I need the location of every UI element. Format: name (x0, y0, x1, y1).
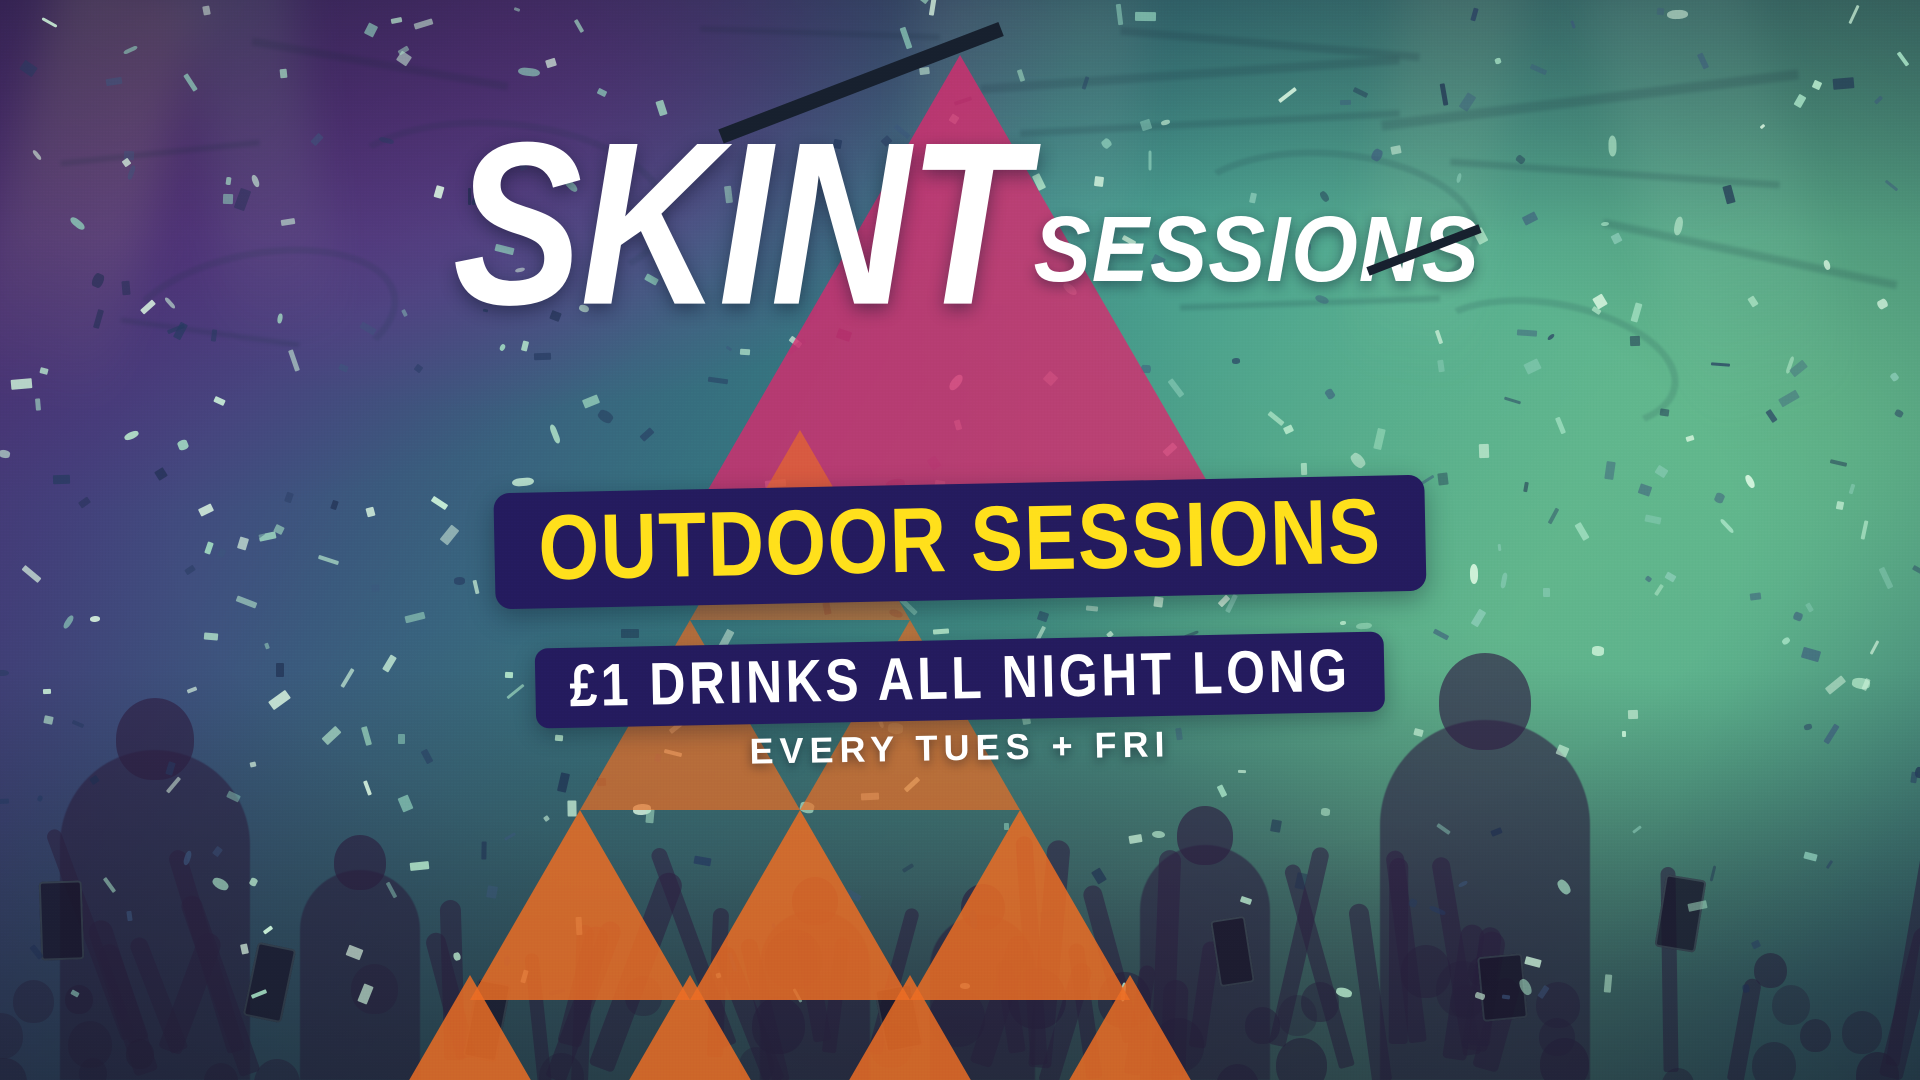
event-flyer: SKINT SESSIONS OUTDOOR SESSIONS £1 DRINK… (0, 0, 1920, 1080)
film-grain-overlay (0, 0, 1920, 1080)
